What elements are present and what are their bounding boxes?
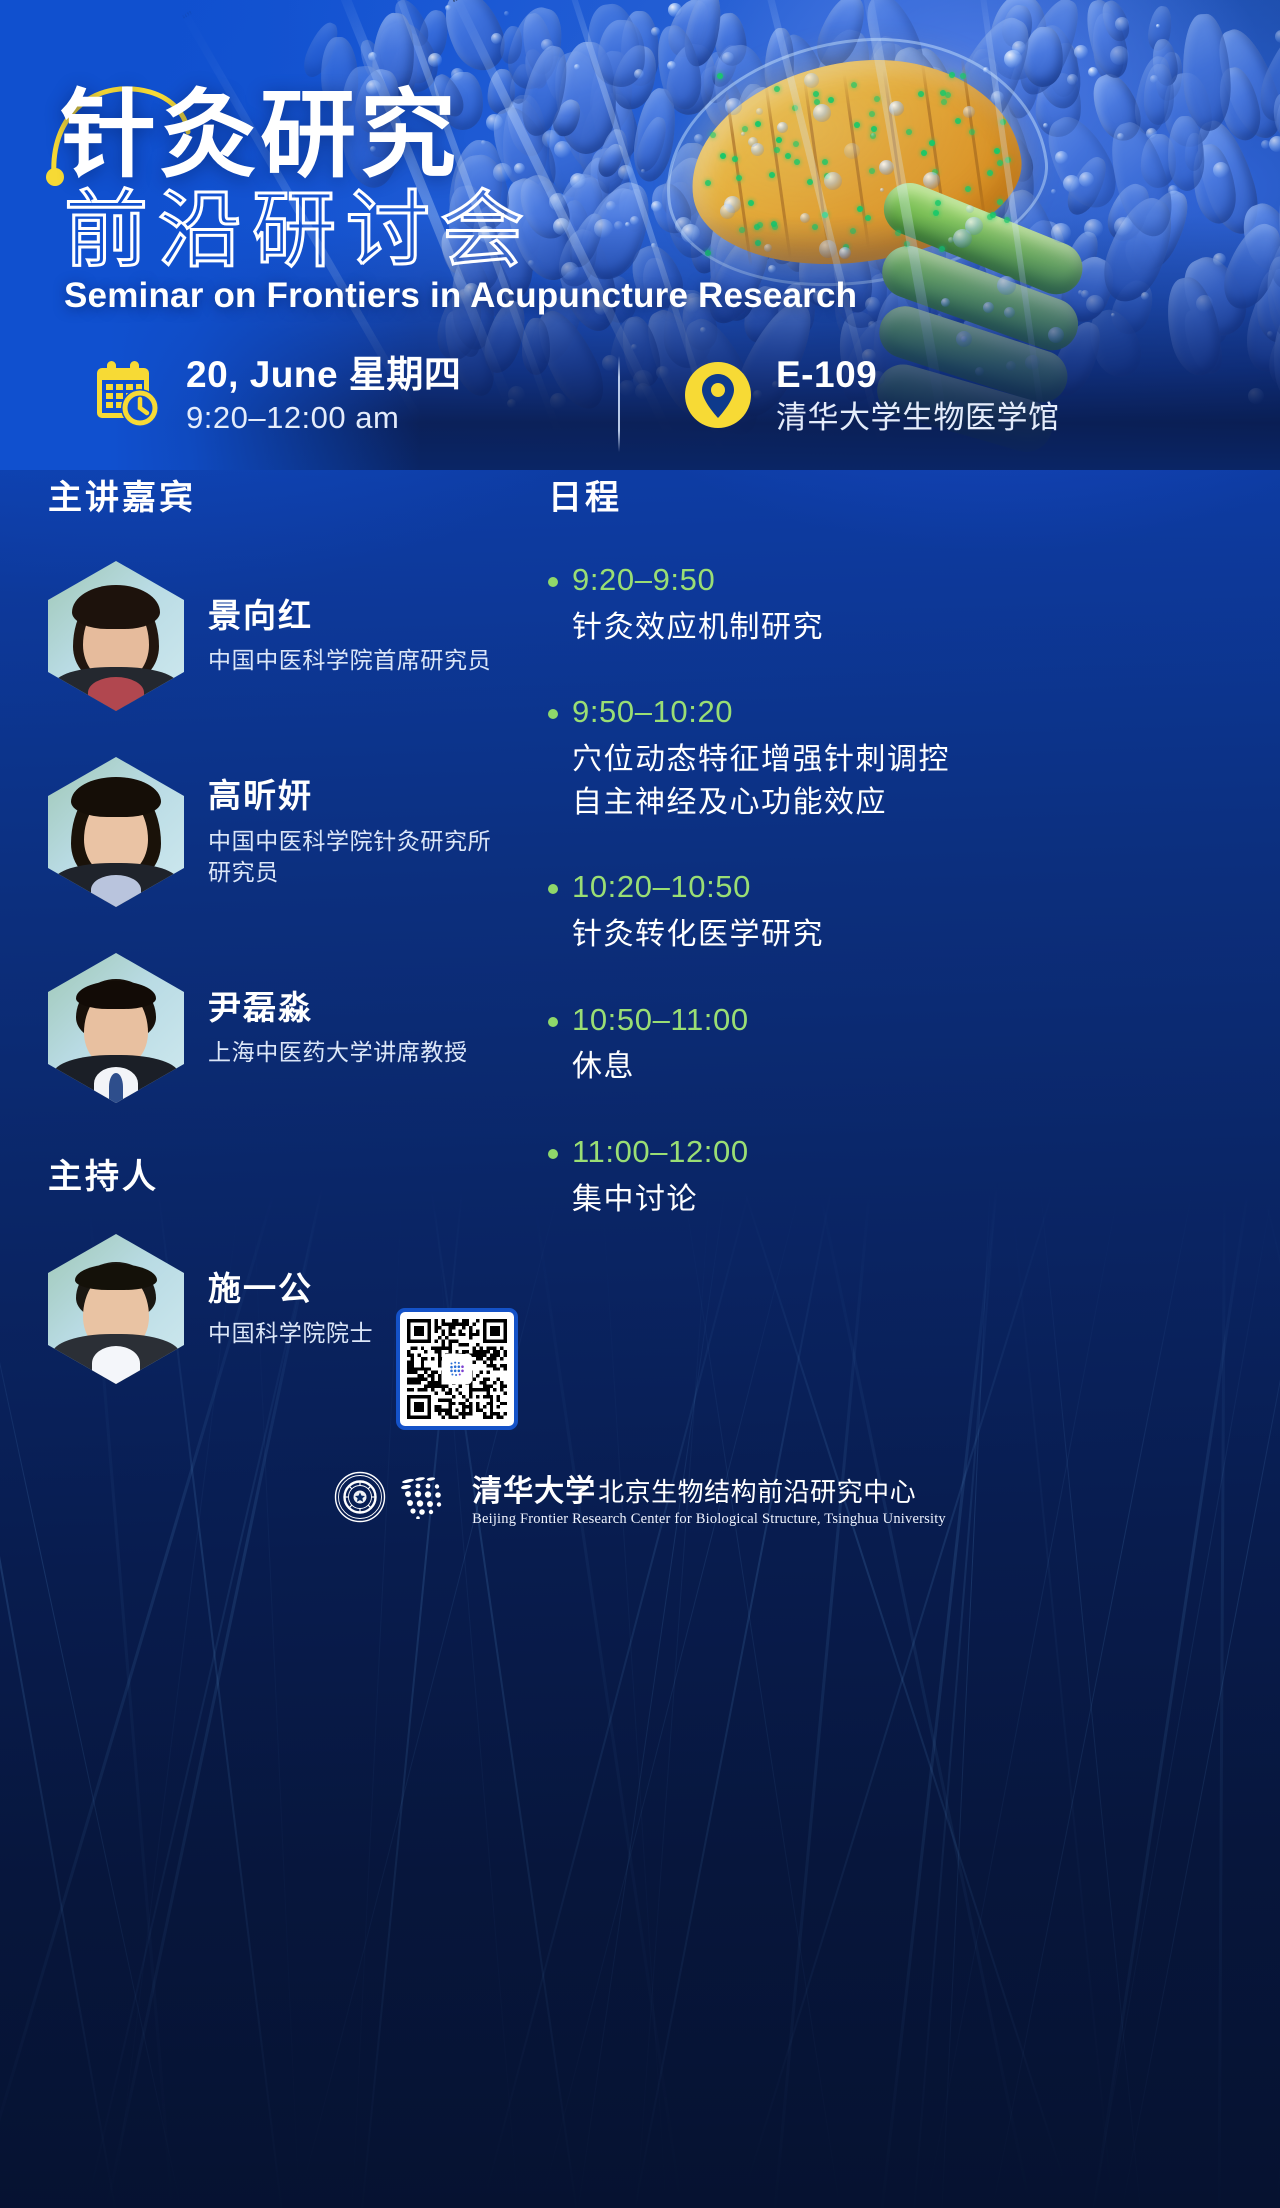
page-title: 针灸研究 [60, 86, 460, 187]
meta-divider [618, 356, 620, 452]
event-date: 20, June 星期四 [186, 354, 461, 395]
poster-root: 针灸研究 前沿研讨会 Seminar on Frontiers in Acupu… [0, 0, 1280, 2208]
speaker-name: 尹磊淼 [208, 988, 468, 1028]
event-room: E-109 [776, 354, 1060, 395]
speaker-affiliation: 上海中医药大学讲席教授 [208, 1037, 468, 1068]
agenda-row: 10:50–11:00 休息 [548, 1001, 968, 1089]
dot-logo-icon [400, 1475, 458, 1519]
agenda-time: 9:20–9:50 [572, 561, 968, 600]
speaker-name: 高昕妍 [208, 776, 491, 816]
qr-center-logo [442, 1354, 472, 1384]
qr-code[interactable] [396, 1308, 518, 1430]
page-subtitle: 前沿研讨会 [64, 186, 534, 274]
speaker-name: 景向红 [208, 596, 491, 636]
speaker-item: 高昕妍 中国中医科学院针灸研究所 研究员 [48, 757, 528, 907]
event-time: 9:20–12:00 am [186, 399, 461, 436]
tsinghua-seal-icon [334, 1471, 386, 1523]
agenda-section-title: 日程 [548, 470, 968, 519]
event-meta-row: 20, June 星期四 9:20–12:00 am E-109 清华大学生物医… [0, 348, 1280, 458]
event-venue: 清华大学生物医学馆 [776, 399, 1060, 436]
host-name: 施一公 [208, 1269, 373, 1309]
speaker-affiliation: 中国中医科学院首席研究员 [208, 645, 491, 676]
speaker-item: 景向红 中国中医科学院首席研究员 [48, 561, 528, 711]
event-location-block: E-109 清华大学生物医学馆 [682, 354, 1060, 437]
speaker-affiliation: 中国中医科学院针灸研究所 研究员 [208, 826, 491, 888]
footer-center-en: Beijing Frontier Research Center for Bio… [472, 1511, 946, 1527]
footer-university: 清华大学 [472, 1466, 596, 1510]
agenda-desc: 休息 [572, 1046, 968, 1089]
agenda-desc: 穴位动态特征增强针刺调控自主神经及心功能效应 [572, 739, 968, 824]
agenda-time: 9:50–10:20 [572, 693, 968, 732]
agenda-row: 9:50–10:20 穴位动态特征增强针刺调控自主神经及心功能效应 [548, 693, 968, 824]
agenda-desc: 针灸效应机制研究 [572, 607, 968, 650]
agenda-row: 9:20–9:50 针灸效应机制研究 [548, 561, 968, 649]
agenda-time: 10:20–10:50 [572, 868, 968, 907]
event-date-block: 20, June 星期四 9:20–12:00 am [90, 354, 461, 437]
speakers-section-title: 主讲嘉宾 [48, 470, 528, 519]
agenda-column: 日程 9:20–9:50 针灸效应机制研究 9:50–10:20 穴位动态特征增… [548, 470, 968, 1265]
avatar [48, 1234, 184, 1384]
avatar [48, 757, 184, 907]
speakers-column: 主讲嘉宾 景向红 中国中医科学院首席研究员 [48, 470, 528, 1430]
speaker-item: 尹磊淼 上海中医药大学讲席教授 [48, 953, 528, 1103]
host-affiliation: 中国科学院院士 [208, 1318, 373, 1349]
agenda-desc: 针灸转化医学研究 [572, 914, 968, 957]
agenda-time: 11:00–12:00 [572, 1133, 968, 1172]
page-title-english: Seminar on Frontiers in Acupuncture Rese… [64, 276, 857, 316]
bullet-icon [548, 577, 558, 587]
map-pin-icon [682, 359, 754, 431]
bullet-icon [548, 1149, 558, 1159]
agenda-row: 11:00–12:00 集中讨论 [548, 1133, 968, 1221]
footer-center-cn: 北京生物结构前沿研究中心 [598, 1472, 916, 1509]
bullet-icon [548, 1017, 558, 1027]
host-section-title: 主持人 [48, 1149, 528, 1198]
agenda-desc: 集中讨论 [572, 1179, 968, 1222]
agenda-row: 10:20–10:50 针灸转化医学研究 [548, 868, 968, 956]
agenda-time: 10:50–11:00 [572, 1001, 968, 1040]
avatar [48, 953, 184, 1103]
bullet-icon [548, 709, 558, 719]
bullet-icon [548, 884, 558, 894]
footer-logo-bar: 清华大学 北京生物结构前沿研究中心 Beijing Frontier Resea… [0, 1466, 1280, 1528]
calendar-clock-icon [90, 358, 164, 432]
avatar [48, 561, 184, 711]
